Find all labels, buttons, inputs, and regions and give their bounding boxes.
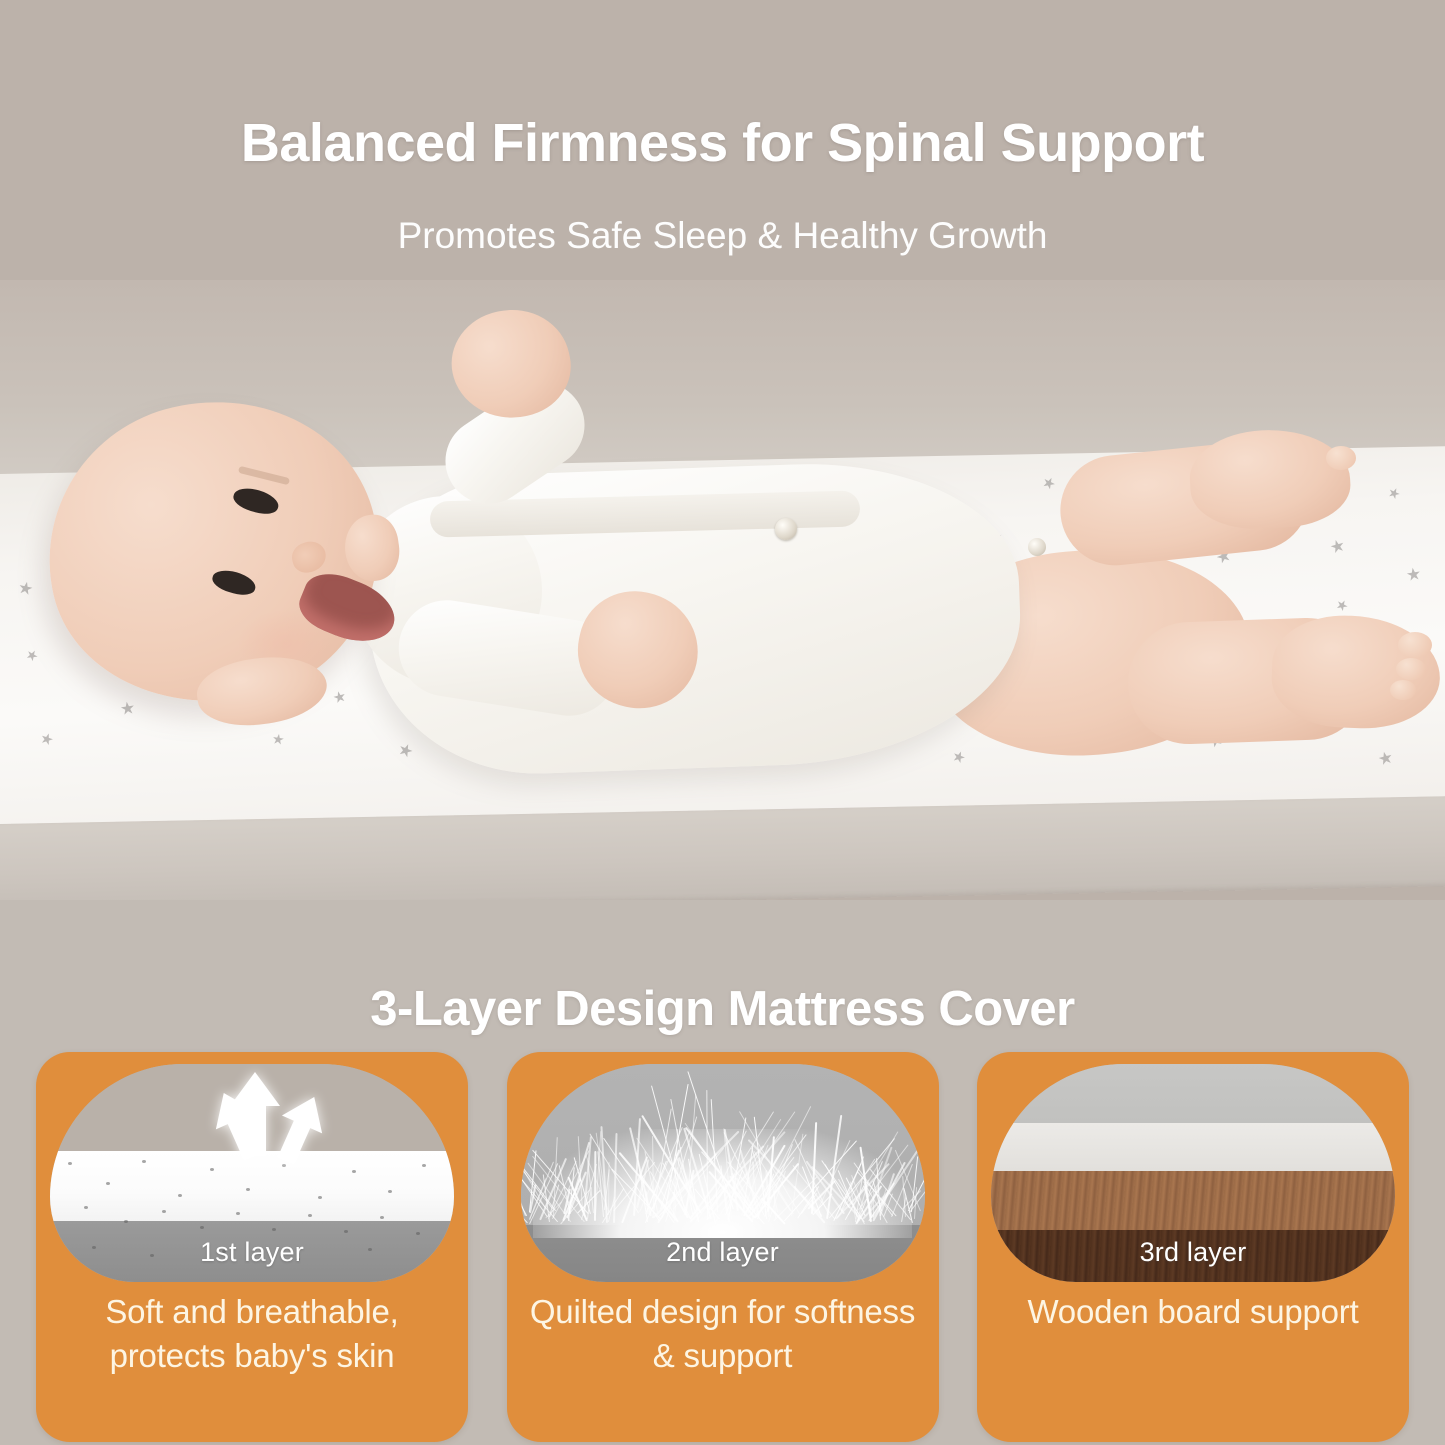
section-title: 3-Layer Design Mattress Cover [0, 981, 1445, 1037]
layer-3-caption: Wooden board support [977, 1290, 1409, 1334]
hero-subtitle: Promotes Safe Sleep & Healthy Growth [0, 215, 1445, 257]
bodysuit-snap [1028, 538, 1046, 556]
wood-light-grain-layer [991, 1171, 1395, 1230]
board-foam-layer [991, 1123, 1395, 1171]
page-title: Balanced Firmness for Spinal Support [0, 114, 1445, 173]
layer-2-label: 2nd layer [521, 1237, 925, 1268]
product-infographic: Balanced Firmness for Spinal Support Pro… [0, 0, 1445, 1445]
baby-foot-left [1188, 426, 1353, 532]
layer-1-caption: Soft and breathable, protects baby's ski… [36, 1290, 468, 1377]
layer-card-list: 1st layer Soft and breathable, protects … [0, 1052, 1445, 1442]
board-top-backdrop [991, 1064, 1395, 1123]
baby-figure [0, 280, 1445, 900]
layer-1-illustration: 1st layer [50, 1064, 454, 1282]
baby-on-mattress-photo: ★ ★ ★ ★ ★ ★ ★ ★ ★ ★ ★ ★ ★ ★ ★ ★ ★ ★ ★ ★ [0, 280, 1445, 900]
baby-toe [1396, 658, 1426, 680]
layer-2-caption: Quilted design for softness & support [507, 1290, 939, 1377]
hero-section: Balanced Firmness for Spinal Support Pro… [0, 0, 1445, 900]
baby-toe [1390, 680, 1416, 700]
baby-toe [1326, 446, 1356, 470]
layer-card-1[interactable]: 1st layer Soft and breathable, protects … [36, 1052, 468, 1442]
layer-3-illustration: 3rd layer [991, 1064, 1395, 1282]
layer-card-2[interactable]: 2nd layer Quilted design for softness & … [507, 1052, 939, 1442]
layer-1-label: 1st layer [50, 1237, 454, 1268]
bodysuit-snap [775, 518, 797, 540]
baby-toe [1398, 632, 1432, 658]
airflow-arrow-right [272, 1090, 328, 1168]
layer-3-label: 3rd layer [991, 1237, 1395, 1268]
three-layer-section: 3-Layer Design Mattress Cover [0, 900, 1445, 1445]
layer-card-3[interactable]: 3rd layer Wooden board support [977, 1052, 1409, 1442]
layer-2-illustration: 2nd layer [521, 1064, 925, 1282]
